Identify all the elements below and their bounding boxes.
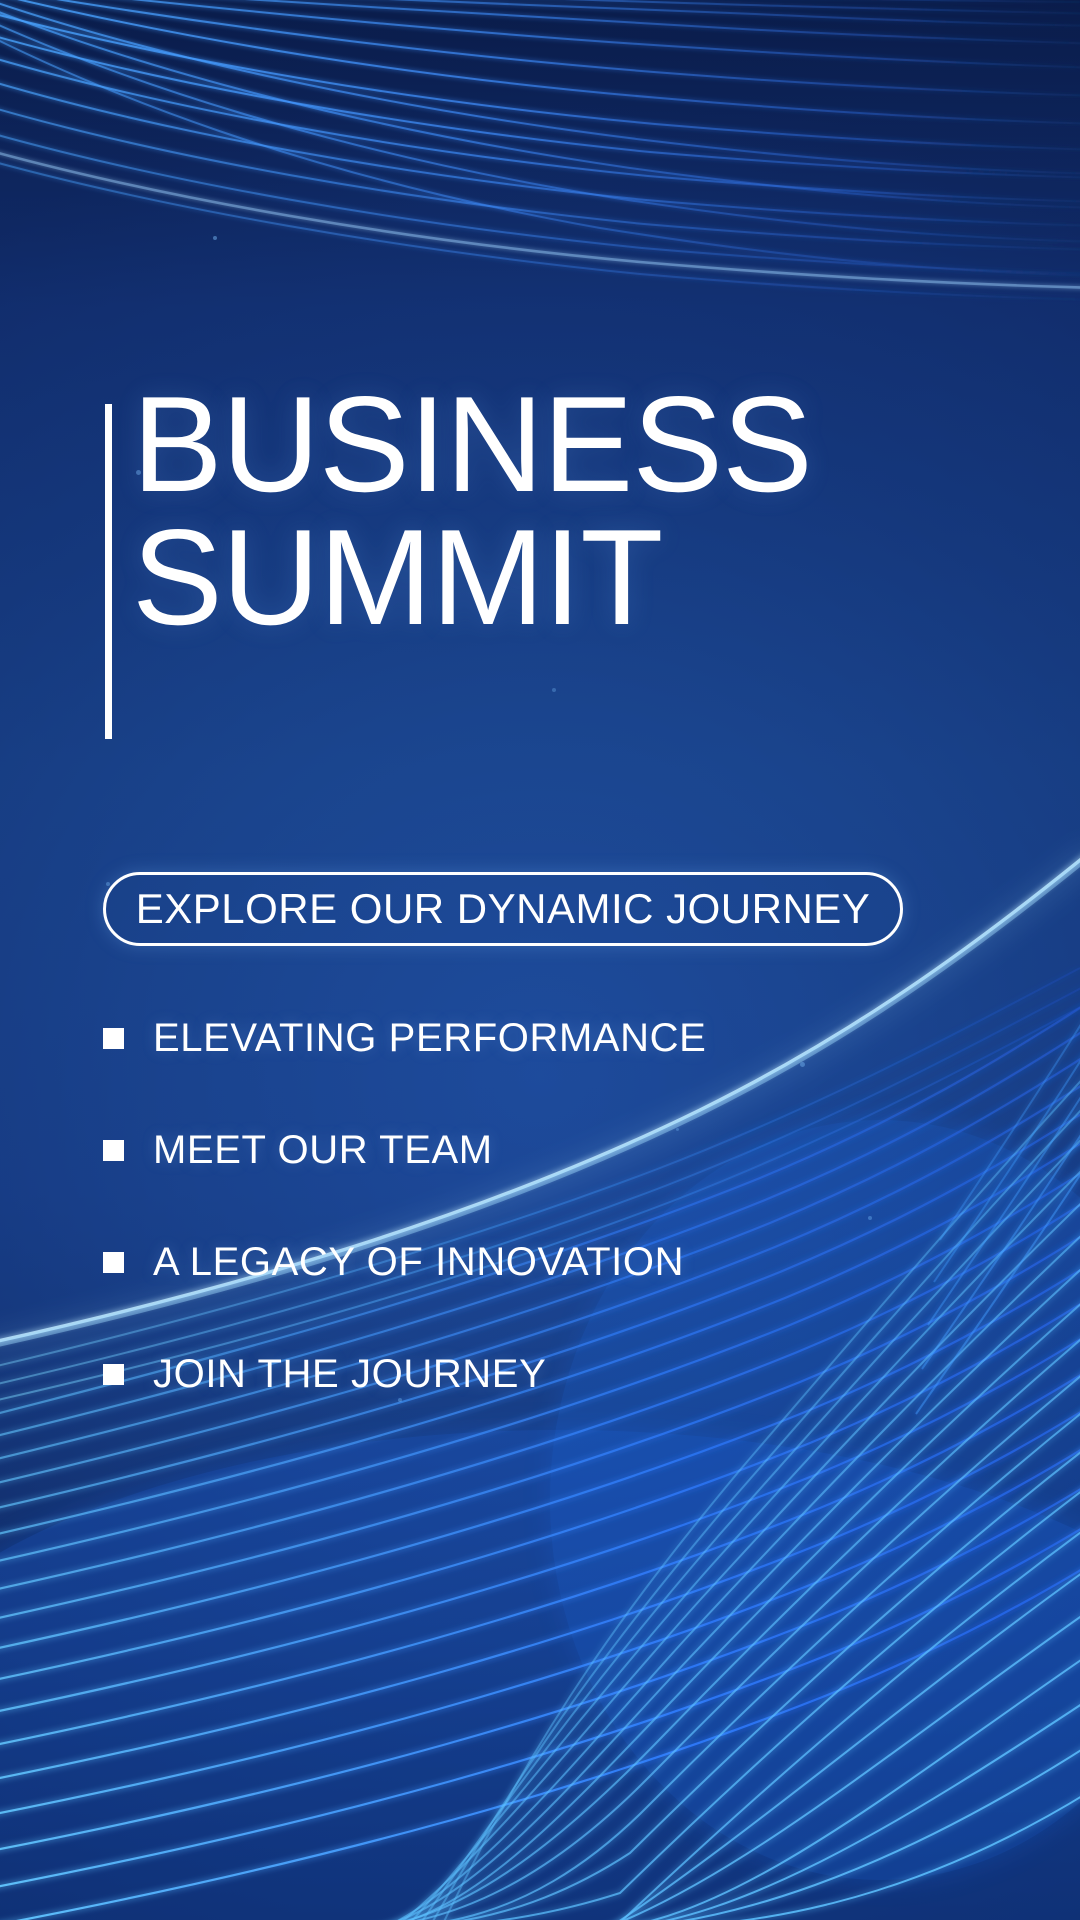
list-item[interactable]: ELEVATING PERFORMANCE — [103, 1000, 923, 1076]
agenda-list: ELEVATING PERFORMANCE MEET OUR TEAM A LE… — [103, 1000, 923, 1448]
square-bullet-icon — [103, 1028, 124, 1049]
explore-journey-button[interactable]: EXPLORE OUR DYNAMIC JOURNEY — [103, 872, 903, 946]
page-title: BUSINESS SUMMIT — [132, 378, 992, 645]
explore-journey-button-label: EXPLORE OUR DYNAMIC JOURNEY — [136, 885, 871, 933]
poster-canvas: BUSINESS SUMMIT EXPLORE OUR DYNAMIC JOUR… — [0, 0, 1080, 1920]
list-item-label: A LEGACY OF INNOVATION — [153, 1240, 684, 1285]
title-line-1: BUSINESS — [132, 378, 992, 511]
list-item[interactable]: A LEGACY OF INNOVATION — [103, 1224, 923, 1300]
title-line-2: SUMMIT — [132, 511, 992, 644]
square-bullet-icon — [103, 1252, 124, 1273]
square-bullet-icon — [103, 1364, 124, 1385]
list-item-label: MEET OUR TEAM — [153, 1128, 493, 1173]
title-accent-bar — [105, 404, 112, 739]
list-item-label: JOIN THE JOURNEY — [153, 1352, 546, 1397]
square-bullet-icon — [103, 1140, 124, 1161]
list-item-label: ELEVATING PERFORMANCE — [153, 1016, 706, 1061]
list-item[interactable]: MEET OUR TEAM — [103, 1112, 923, 1188]
poster-content: BUSINESS SUMMIT EXPLORE OUR DYNAMIC JOUR… — [0, 0, 1080, 1920]
list-item[interactable]: JOIN THE JOURNEY — [103, 1336, 923, 1412]
